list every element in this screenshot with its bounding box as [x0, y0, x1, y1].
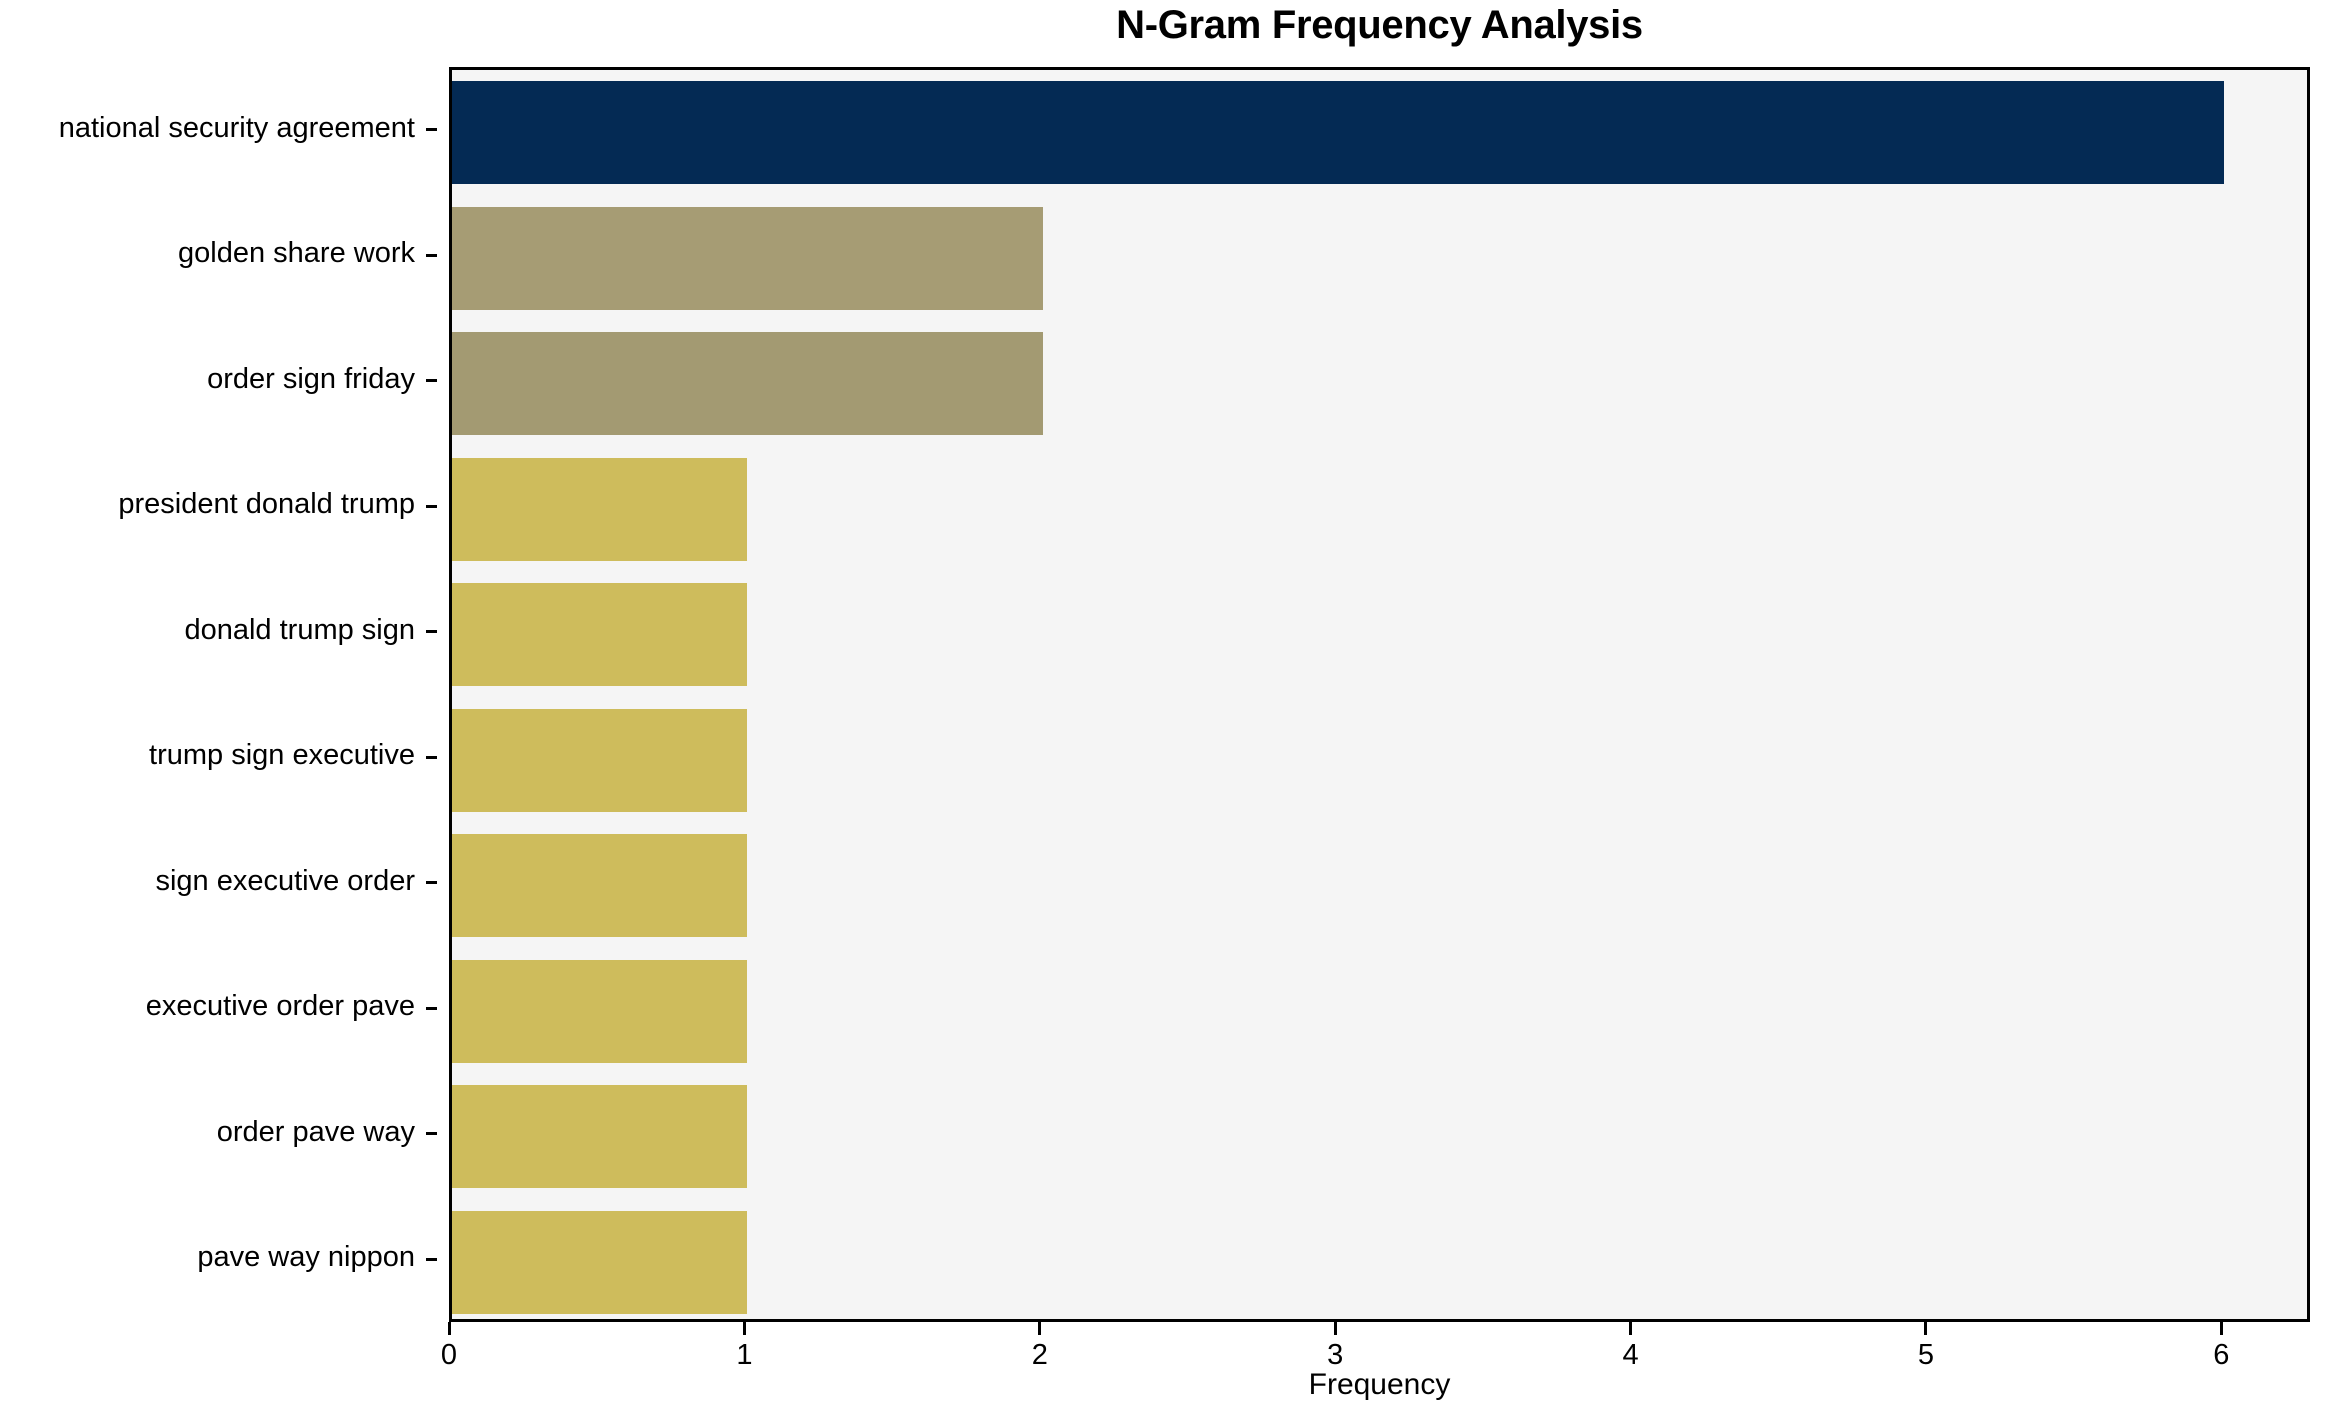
x-tick-label: 2: [1010, 1339, 1070, 1371]
x-tick-mark: [1924, 1322, 1927, 1335]
x-tick-label: 6: [2191, 1339, 2251, 1371]
x-tick-label: 1: [714, 1339, 774, 1371]
bar: [452, 1085, 747, 1188]
x-tick-mark: [1334, 1322, 1337, 1335]
bar: [452, 583, 747, 686]
bar: [452, 1211, 747, 1314]
x-tick-label: 4: [1601, 1339, 1661, 1371]
plot-area: [449, 67, 2310, 1322]
y-tick-label: golden share work: [0, 239, 437, 268]
chart-figure: N-Gram Frequency Analysis national secur…: [0, 0, 2329, 1414]
x-axis-label: Frequency: [449, 1368, 2310, 1402]
x-tick-label: 0: [419, 1339, 479, 1371]
x-tick-mark: [743, 1322, 746, 1335]
bar: [452, 81, 2224, 184]
bar: [452, 834, 747, 937]
x-tick-mark: [1038, 1322, 1041, 1335]
bar: [452, 332, 1043, 435]
y-tick-label: order sign friday: [0, 365, 437, 394]
y-tick-label: sign executive order: [0, 867, 437, 896]
bar: [452, 709, 747, 812]
y-tick-label: national security agreement: [0, 114, 437, 143]
chart-title: N-Gram Frequency Analysis: [449, 2, 2310, 48]
y-tick-label: donald trump sign: [0, 616, 437, 645]
y-tick-label: trump sign executive: [0, 741, 437, 770]
bars-layer: [452, 70, 2307, 1319]
bar: [452, 458, 747, 561]
x-tick-mark: [2220, 1322, 2223, 1335]
x-tick-mark: [448, 1322, 451, 1335]
bar: [452, 960, 747, 1063]
y-tick-label: order pave way: [0, 1118, 437, 1147]
y-tick-label: executive order pave: [0, 992, 437, 1021]
y-tick-label: president donald trump: [0, 490, 437, 519]
x-tick-label: 5: [1896, 1339, 1956, 1371]
y-tick-label: pave way nippon: [0, 1243, 437, 1272]
y-axis-labels: national security agreementgolden share …: [0, 67, 437, 1322]
x-tick-label: 3: [1305, 1339, 1365, 1371]
bar: [452, 207, 1043, 310]
x-tick-mark: [1629, 1322, 1632, 1335]
